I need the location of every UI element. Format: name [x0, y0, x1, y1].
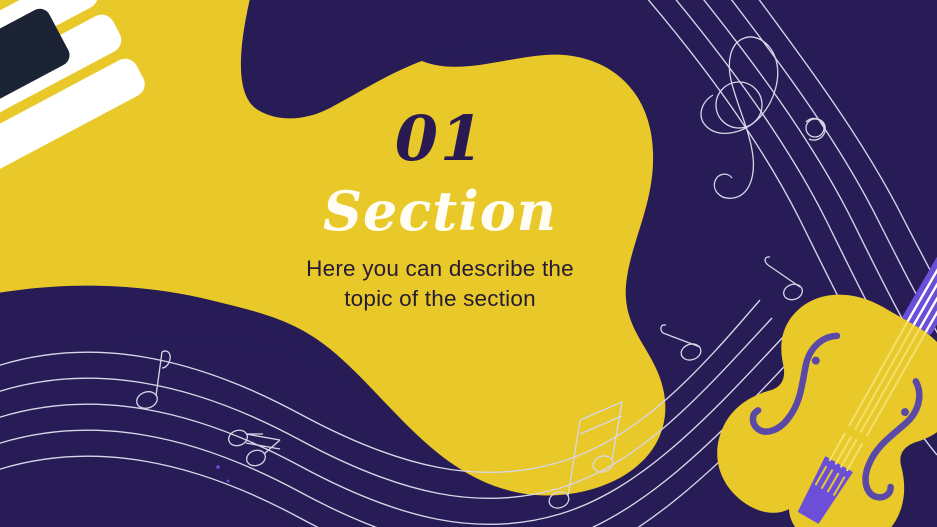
section-text-block: 01 Section Here you can describe the top…: [230, 108, 650, 313]
violin-group: [695, 44, 937, 527]
section-title: Section: [230, 184, 650, 238]
section-description-line-1: Here you can describe the: [230, 254, 650, 284]
section-description-line-2: topic of the section: [230, 284, 650, 314]
section-number: 01: [230, 108, 650, 170]
slide-canvas: 01 Section Here you can describe the top…: [0, 0, 937, 527]
section-description: Here you can describe the topic of the s…: [230, 254, 650, 313]
